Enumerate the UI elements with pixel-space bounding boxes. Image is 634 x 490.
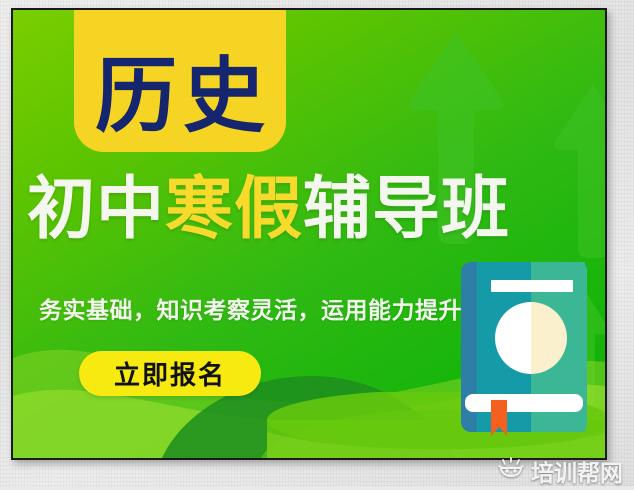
headline-segment-course: 辅导班 [303, 170, 510, 249]
watermark: 培训帮网 [492, 452, 629, 490]
page-title: 初中寒假辅导班 [27, 176, 605, 244]
banner-frame: 历史 初中寒假辅导班 务实基础，知识考察灵活，运用能力提升 立即报名 [11, 8, 607, 460]
subject-badge: 历史 [74, 10, 286, 152]
book-icon [459, 260, 587, 447]
sun-face-icon [498, 457, 524, 486]
watermark-label: 培训帮网 [531, 454, 623, 488]
subtitle-text: 务实基础，知识考察灵活，运用能力提升 [39, 291, 462, 325]
promotional-banner: 历史 初中寒假辅导班 务实基础，知识考察灵活，运用能力提升 立即报名 [13, 10, 605, 458]
headline-segment-grade: 初中 [27, 170, 165, 249]
subject-badge-label: 历史 [89, 56, 271, 146]
enroll-now-button[interactable]: 立即报名 [79, 351, 261, 396]
enroll-now-label: 立即报名 [114, 355, 226, 392]
headline-segment-season: 寒假 [165, 170, 303, 249]
